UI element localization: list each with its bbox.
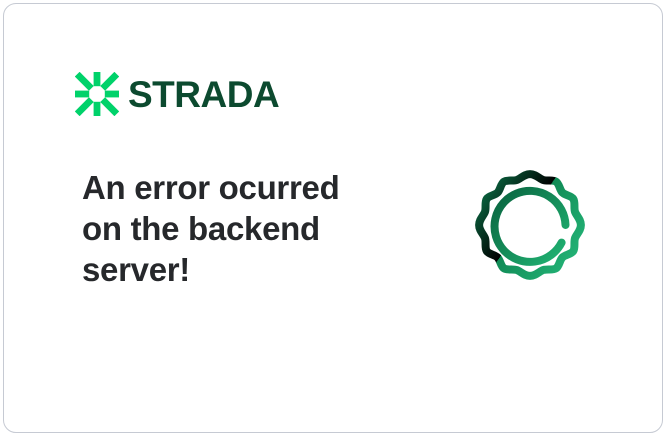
strada-asterisk-mark-icon [75, 72, 119, 116]
gear-icon [451, 146, 609, 304]
error-card: STRADA An error ocurred on the backend s… [3, 3, 663, 433]
brand-logo: STRADA [75, 72, 279, 116]
error-page: STRADA An error ocurred on the backend s… [0, 0, 666, 436]
error-message: An error ocurred on the backend server! [82, 167, 382, 290]
brand-wordmark: STRADA [128, 76, 279, 113]
